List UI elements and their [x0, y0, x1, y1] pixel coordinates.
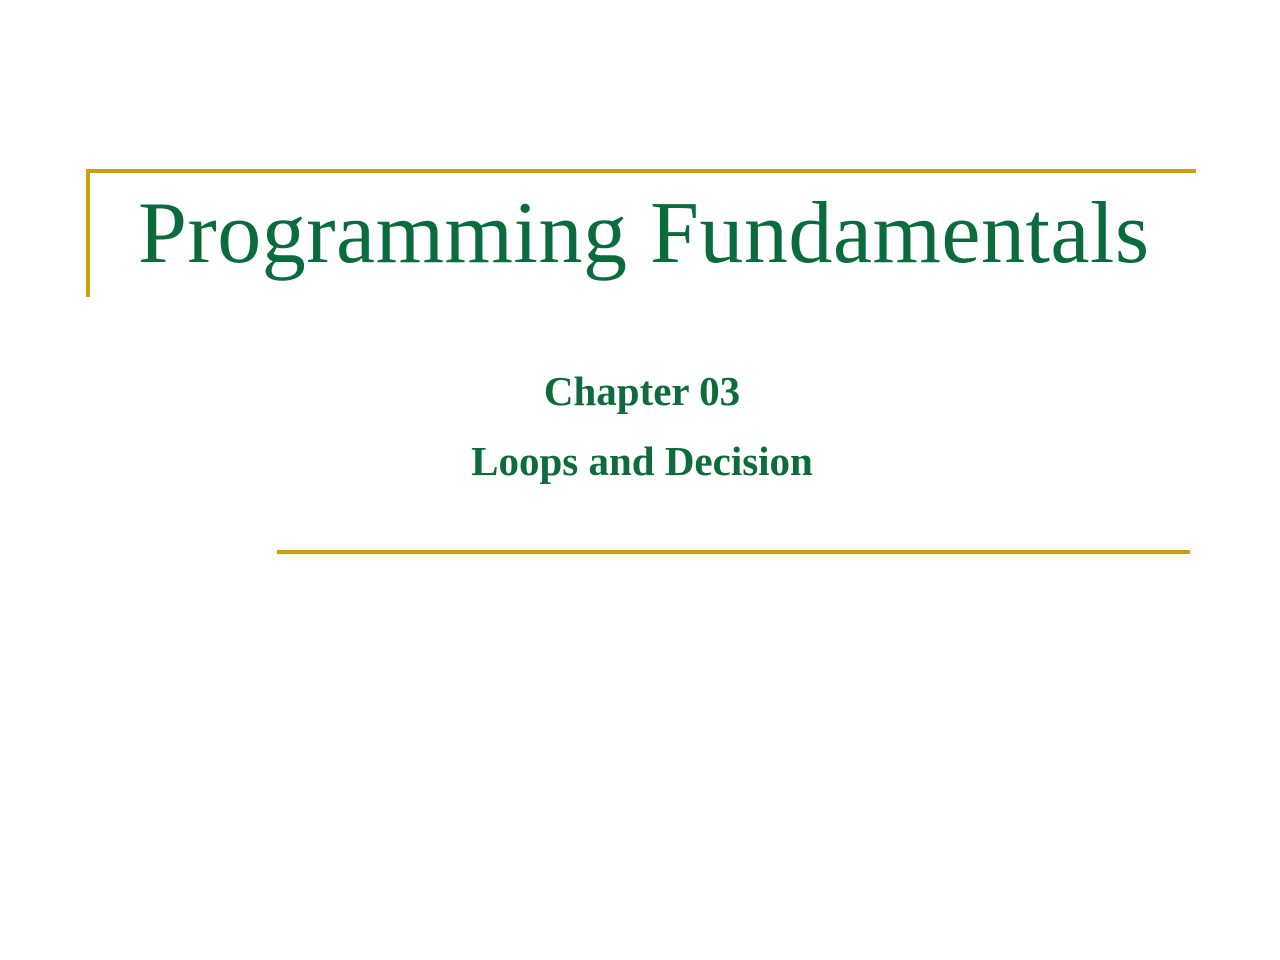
subtitle-bottom-rule: [277, 550, 1190, 554]
slide-subtitle: Chapter 03 Loops and Decision: [140, 368, 1144, 485]
title-frame-left-rule: [86, 169, 90, 297]
title-frame-top-rule: [86, 169, 1196, 173]
subtitle-line-chapter: Chapter 03: [140, 368, 1144, 415]
page-title: Programming Fundamentals: [138, 186, 1198, 286]
presentation-slide: Programming Fundamentals Chapter 03 Loop…: [0, 0, 1280, 960]
subtitle-line-topic: Loops and Decision: [140, 438, 1144, 485]
